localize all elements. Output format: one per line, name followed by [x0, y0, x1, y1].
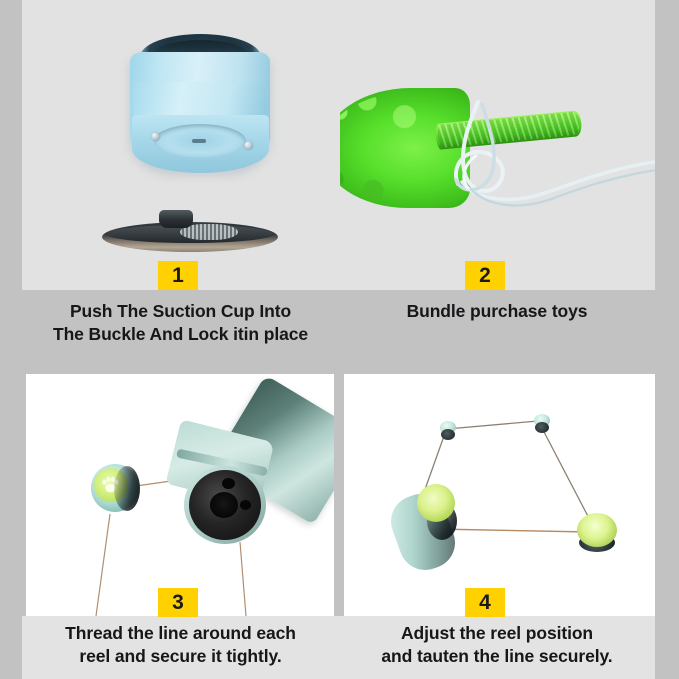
toy-reel-shadow-side	[114, 466, 140, 511]
mini-reel-base	[441, 429, 455, 440]
main-reel-unit	[395, 484, 459, 570]
step2-illustration	[340, 0, 655, 290]
mini-reel-top-left	[440, 421, 456, 440]
mini-reel-top-right	[534, 414, 550, 433]
step2-caption: Bundle purchase toys	[339, 300, 655, 323]
adhesive-disc-knob	[159, 210, 193, 228]
reel-hole	[222, 478, 235, 489]
nylon-line-knot	[418, 96, 655, 276]
reel-hole	[240, 500, 251, 510]
step4-illustration	[344, 374, 655, 616]
mini-reel-base	[535, 422, 549, 433]
black-reel-hub	[210, 492, 238, 518]
step4-line-paths	[344, 374, 655, 616]
step1-caption: Push The Suction Cup Into The Buckle And…	[22, 300, 339, 346]
step-badge-3: 3	[158, 588, 198, 617]
step-badge-2: 2	[465, 261, 505, 290]
side-reel-disc	[577, 513, 617, 547]
green-toy-reel	[86, 462, 140, 516]
step4-caption: Adjust the reel position and tauten the …	[339, 622, 655, 668]
step3-caption: Thread the line around each reel and sec…	[22, 622, 339, 668]
suction-cup-notch	[192, 139, 206, 143]
instruction-infographic: Push The Suction Cup Into The Buckle And…	[0, 0, 679, 679]
step-badge-4: 4	[465, 588, 505, 617]
screw-icon	[151, 132, 160, 141]
row1-image-band	[22, 0, 655, 290]
side-reel-unit	[577, 513, 619, 555]
screw-icon	[244, 141, 253, 150]
step3-illustration	[26, 374, 334, 616]
step-badge-1: 1	[158, 261, 198, 290]
main-reel-disc	[417, 484, 455, 522]
